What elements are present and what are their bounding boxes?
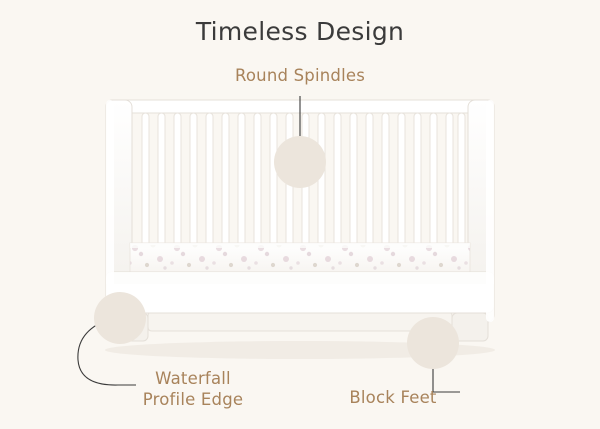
diagram-canvas: Timeless Design Round Spindles Waterfall… [0,0,600,429]
callout-dot-block-feet[interactable] [407,317,459,369]
page-title: Timeless Design [0,17,600,46]
callout-label-waterfall-profile-edge: Waterfall Profile Edge [113,369,273,410]
callout-dot-waterfall-profile-edge[interactable] [94,292,146,344]
callout-dot-round-spindles[interactable] [274,136,326,188]
callout-label-block-feet: Block Feet [318,388,468,409]
callout-label-round-spindles: Round Spindles [0,66,600,87]
leader-lines [0,0,600,429]
